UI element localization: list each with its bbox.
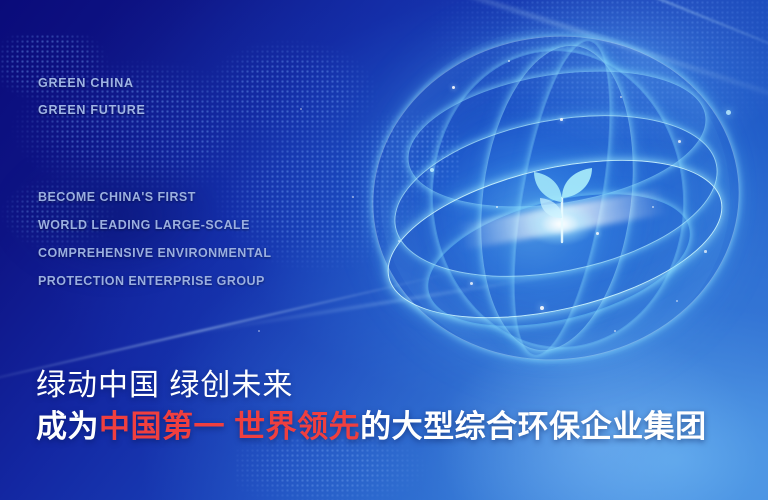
particle-star — [258, 330, 260, 332]
particle-star — [300, 108, 302, 110]
headline-accent: 中国第一 世界领先 — [99, 409, 360, 444]
mission-line-3: COMPREHENSIVE ENVIRONMENTAL — [38, 239, 271, 267]
mission-line-2: WORLD LEADING LARGE-SCALE — [38, 211, 271, 239]
headline-suffix: 的大型综合环保企业集团 — [360, 409, 707, 444]
headline-line-1: 绿动中国 绿创未来 — [36, 366, 707, 406]
sprout-seedling-icon — [522, 158, 600, 244]
tagline-line-1: GREEN CHINA — [38, 70, 146, 97]
green-china-hero-banner: GREEN CHINA GREEN FUTURE BECOME CHINA'S … — [0, 0, 768, 500]
globe-graphic — [372, 28, 740, 368]
mission-statement-block: BECOME CHINA'S FIRST WORLD LEADING LARGE… — [38, 183, 271, 295]
tagline-block: GREEN CHINA GREEN FUTURE — [38, 70, 146, 124]
mission-line-4: PROTECTION ENTERPRISE GROUP — [38, 267, 271, 295]
tagline-line-2: GREEN FUTURE — [38, 97, 146, 124]
headline-line-2: 成为中国第一 世界领先的大型综合环保企业集团 — [36, 406, 707, 448]
particle-star — [352, 196, 354, 198]
mission-line-1: BECOME CHINA'S FIRST — [38, 183, 271, 211]
headline-block: 绿动中国 绿创未来 成为中国第一 世界领先的大型综合环保企业集团 — [36, 366, 707, 448]
headline-prefix: 成为 — [36, 409, 99, 444]
